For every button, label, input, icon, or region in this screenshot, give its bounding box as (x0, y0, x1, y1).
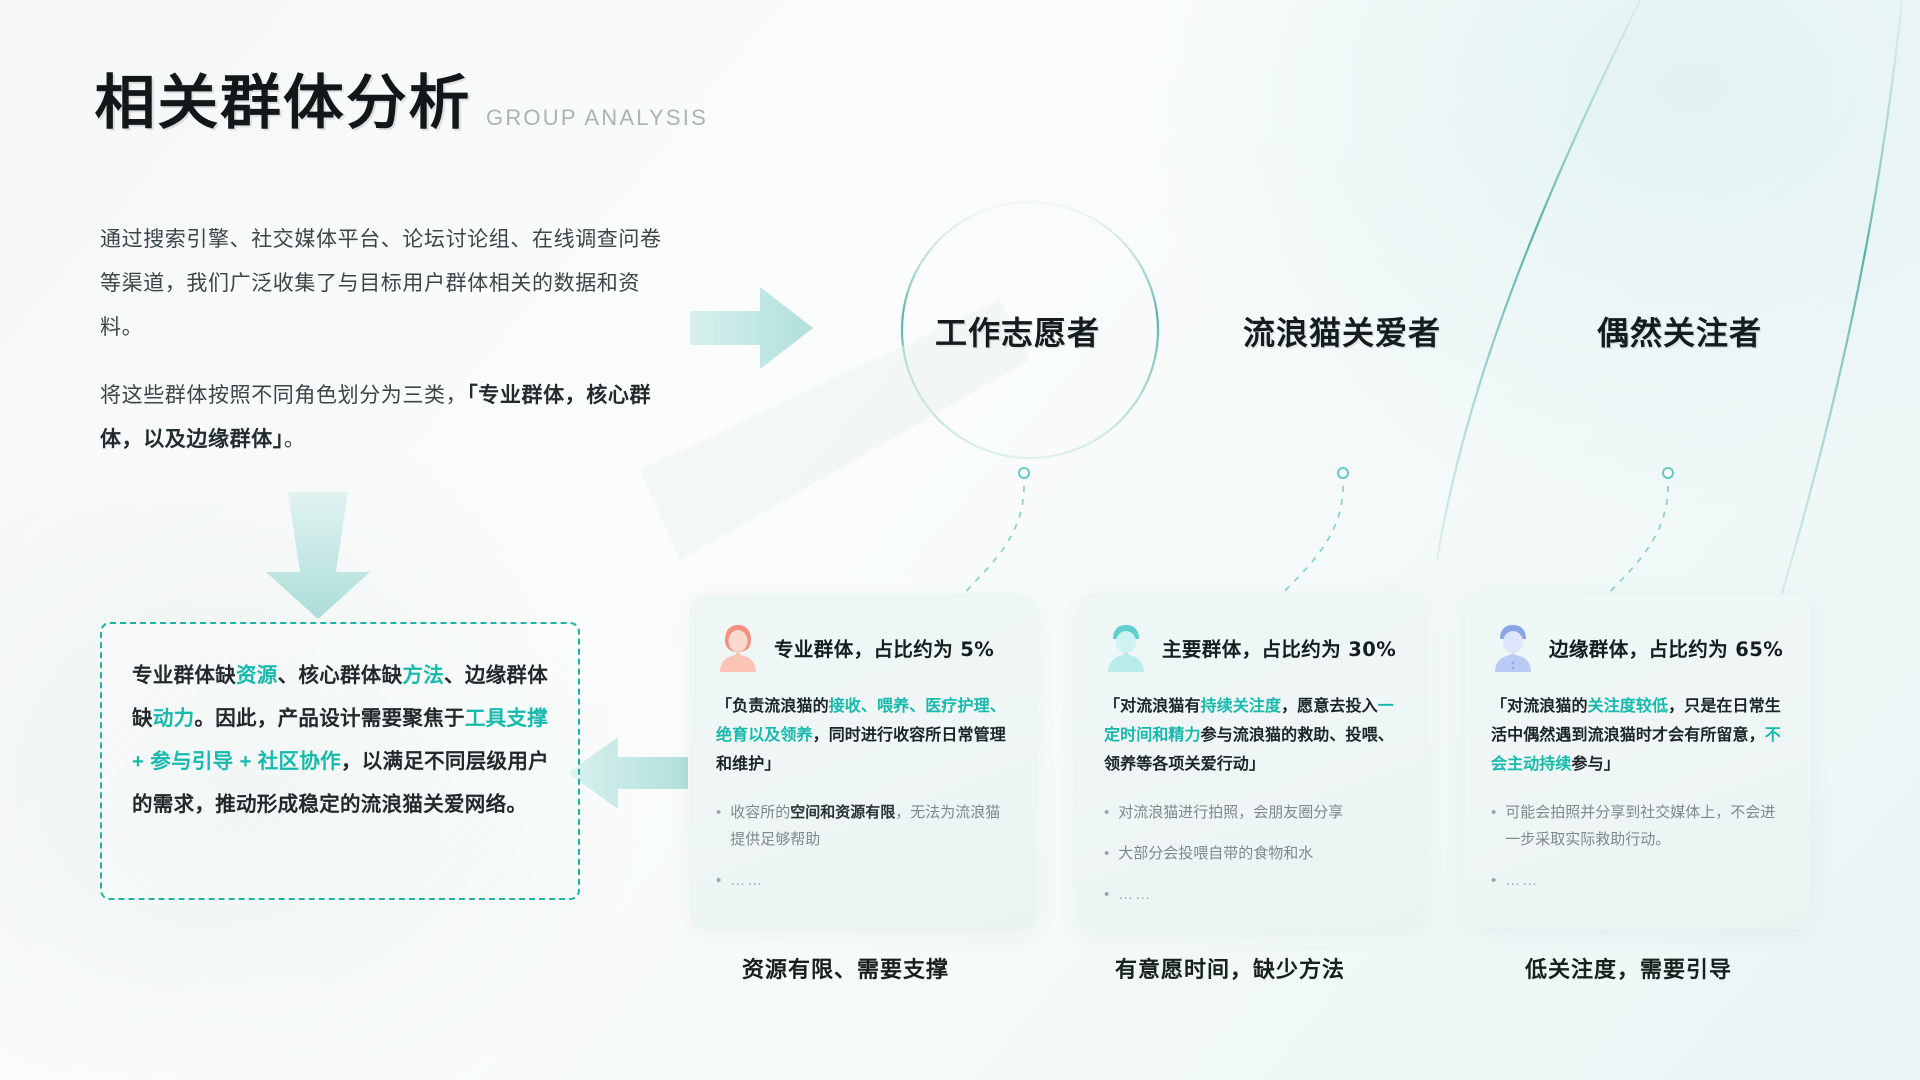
bullet-text: …… (1118, 881, 1152, 908)
bullet-text: 大部分会投喂自带的食物和水 (1118, 840, 1313, 867)
left-arrow-icon (566, 735, 688, 811)
quote-hl-1: 持续关注度 (1201, 698, 1282, 715)
bullet-text: 可能会拍照并分享到社交媒体上，不会进一步采取实际救助行动。 (1505, 799, 1785, 853)
intro-paragraph-1: 通过搜索引擎、社交媒体平台、论坛讨论组、在线调查问卷等渠道，我们广泛收集了与目标… (100, 218, 680, 350)
page-title: 相关群体分析 (95, 55, 472, 140)
connector-dot-icon-1 (1337, 467, 1349, 479)
bullet-dot-icon: • (1491, 867, 1496, 894)
quote-close-0: 」 (764, 756, 780, 773)
list-item: •收容所的空间和资源有限，无法为流浪猫提供足够帮助 (716, 799, 1010, 853)
bullet-bold: 空间和资源有限 (790, 804, 895, 821)
group-header-1: 流浪猫关爱者 (1243, 308, 1441, 354)
bullet-dot-icon: • (716, 799, 721, 853)
bullet-dot-icon: • (1104, 881, 1109, 908)
conclusion-text: 专业群体缺资源、核心群体缺方法、边缘群体缺动力。因此，产品设计需要聚焦于工具支撑… (132, 654, 550, 826)
intro-block: 通过搜索引擎、社交媒体平台、论坛讨论组、在线调查问卷等渠道，我们广泛收集了与目标… (100, 218, 680, 462)
quote-close-2: 」 (1604, 756, 1620, 773)
conclusion-seg-2: 、核心群体缺 (278, 664, 403, 687)
quote-open-1: 「对流浪猫有 (1104, 698, 1201, 715)
list-item: •大部分会投喂自带的食物和水 (1104, 840, 1398, 867)
list-item: •对流浪猫进行拍照，会朋友圈分享 (1104, 799, 1398, 826)
card-quote-1: 「对流浪猫有持续关注度，愿意去投入一定时间和精力参与流浪猫的救助、投喂、领养等各… (1104, 692, 1398, 779)
male-caregiver-avatar (1104, 622, 1148, 672)
card-header-1: 主要群体，占比约为 30% (1104, 616, 1398, 678)
male-bystander-avatar (1491, 622, 1535, 672)
card-header-2: 边缘群体，占比约为 65% (1491, 616, 1785, 678)
card-bullets-1: •对流浪猫进行拍照，会朋友圈分享 •大部分会投喂自带的食物和水 •…… (1104, 799, 1398, 908)
card-quote-2: 「对流浪猫的关注度较低，只是在日常生活中偶然遇到流浪猫时才会有所留意，不会主动持… (1491, 692, 1785, 779)
bullet-dot-icon: • (1104, 799, 1109, 826)
bullet-dot-icon: • (716, 867, 721, 894)
bullet-text: 对流浪猫进行拍照，会朋友圈分享 (1118, 799, 1343, 826)
down-arrow-icon (258, 492, 378, 620)
conclusion-seg-4: 。因此，产品设计需要聚焦于 (194, 707, 464, 730)
group-header-0: 工作志愿者 (935, 308, 1100, 354)
conclusion-hl-2: 方法 (402, 664, 444, 687)
list-item: •可能会拍照并分享到社交媒体上，不会进一步采取实际救助行动。 (1491, 799, 1785, 853)
quote-mid-1: ，愿意去投入 (1281, 698, 1378, 715)
group-header-2: 偶然关注者 (1597, 308, 1762, 354)
list-item: •…… (1491, 867, 1785, 894)
intro-paragraph-2: 将这些群体按照不同角色划分为三类，「专业群体，核心群体，以及边缘群体」。 (100, 374, 680, 462)
card-header-0: 专业群体，占比约为 5% (716, 616, 1010, 678)
group-card-0[interactable]: 专业群体，占比约为 5% 「负责流浪猫的接收、喂养、医疗护理、绝育以及领养，同时… (690, 594, 1036, 929)
conclusion-hl-1: 资源 (236, 664, 278, 687)
bullet-text: …… (1505, 867, 1539, 894)
card-caption-2: 低关注度，需要引导 (1525, 952, 1732, 984)
conclusion-box: 专业群体缺资源、核心群体缺方法、边缘群体缺动力。因此，产品设计需要聚焦于工具支撑… (100, 622, 580, 900)
card-bullets-2: •可能会拍照并分享到社交媒体上，不会进一步采取实际救助行动。 •…… (1491, 799, 1785, 894)
slide-canvas: 相关群体分析 GROUP ANALYSIS 通过搜索引擎、社交媒体平台、论坛讨论… (0, 0, 1920, 1080)
bullet-dot-icon: • (1104, 840, 1109, 867)
bullet-text: …… (730, 867, 764, 894)
card-quote-0: 「负责流浪猫的接收、喂养、医疗护理、绝育以及领养，同时进行收容所日常管理和维护」 (716, 692, 1010, 779)
quote-open-0: 「负责流浪猫的 (716, 698, 829, 715)
card-title-2: 边缘群体，占比约为 65% (1549, 633, 1783, 662)
intro-p2-plain: 将这些群体按照不同角色划分为三类， (100, 384, 467, 407)
female-volunteer-avatar (716, 622, 760, 672)
card-caption-0: 资源有限、需要支撑 (742, 952, 949, 984)
quote-hl-2: 关注度较低 (1588, 698, 1669, 715)
bullet-dot-icon: • (1491, 799, 1496, 853)
right-arrow-icon (690, 285, 815, 371)
list-item: •…… (716, 867, 1010, 894)
page-header: 相关群体分析 GROUP ANALYSIS (100, 55, 708, 140)
group-card-1[interactable]: 主要群体，占比约为 30% 「对流浪猫有持续关注度，愿意去投入一定时间和精力参与… (1078, 594, 1424, 929)
card-bullets-0: •收容所的空间和资源有限，无法为流浪猫提供足够帮助 •…… (716, 799, 1010, 894)
connector-dot-icon-0 (1018, 467, 1030, 479)
bullet-text: 收容所的空间和资源有限，无法为流浪猫提供足够帮助 (730, 799, 1010, 853)
conclusion-seg-1: 专业群体缺 (132, 664, 236, 687)
card-title-0: 专业群体，占比约为 5% (774, 633, 994, 662)
card-title-1: 主要群体，占比约为 30% (1162, 633, 1396, 662)
quote-close-1: 」 (1249, 756, 1265, 773)
quote-open-2: 「对流浪猫的 (1491, 698, 1588, 715)
group-card-2[interactable]: 边缘群体，占比约为 65% 「对流浪猫的关注度较低，只是在日常生活中偶然遇到流浪… (1465, 594, 1811, 929)
page-subtitle: GROUP ANALYSIS (486, 105, 708, 140)
conclusion-hl-3: 动力 (153, 707, 195, 730)
card-caption-1: 有意愿时间，缺少方法 (1115, 952, 1345, 984)
list-item: •…… (1104, 881, 1398, 908)
connector-dot-icon-2 (1662, 467, 1674, 479)
intro-p2-tail: 。 (284, 428, 306, 451)
bullet-pre: 收容所的 (730, 804, 790, 821)
quote-mid2-2: 参与 (1572, 756, 1604, 773)
